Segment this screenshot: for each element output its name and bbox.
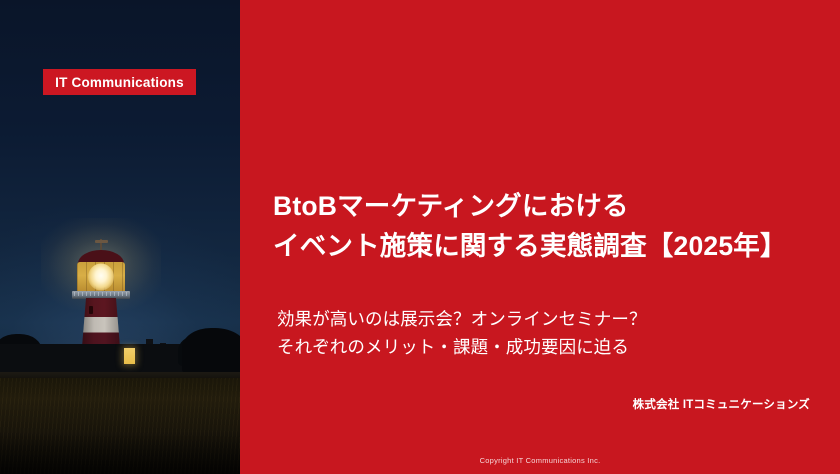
title-line-2: イベント施策に関する実態調査【2025年】 [273, 226, 813, 266]
subtitle-line-1: 効果が高いのは展示会？オンラインセミナー？ [277, 305, 797, 333]
title-slide: IT Communications BtoBマーケティングにおける イベント施策… [0, 0, 840, 474]
title-line-1: BtoBマーケティングにおける [273, 186, 813, 226]
lit-window [124, 348, 135, 364]
field-shadow [0, 432, 240, 474]
lamp-glazing-bars [77, 262, 125, 292]
lighthouse-photo: IT Communications [0, 0, 240, 474]
lamp-room [77, 262, 125, 292]
page-title: BtoBマーケティングにおける イベント施策に関する実態調査【2025年】 [273, 186, 813, 266]
logo-badge-label: IT Communications [55, 75, 184, 90]
logo-badge: IT Communications [43, 69, 196, 95]
copyright-footer: Copyright IT Communications Inc. [240, 456, 840, 465]
subtitle-line-2: それぞれのメリット・課題・成功要因に迫る [277, 333, 797, 361]
content-panel: BtoBマーケティングにおける イベント施策に関する実態調査【2025年】 効果… [240, 0, 840, 474]
page-subtitle: 効果が高いのは展示会？オンラインセミナー？ それぞれのメリット・課題・成功要因に… [277, 305, 797, 361]
lantern-gallery [72, 291, 130, 299]
company-name: 株式会社 ITコミュニケーションズ [633, 396, 810, 412]
tower-window [89, 306, 93, 314]
tree-silhouette-right [182, 328, 240, 374]
